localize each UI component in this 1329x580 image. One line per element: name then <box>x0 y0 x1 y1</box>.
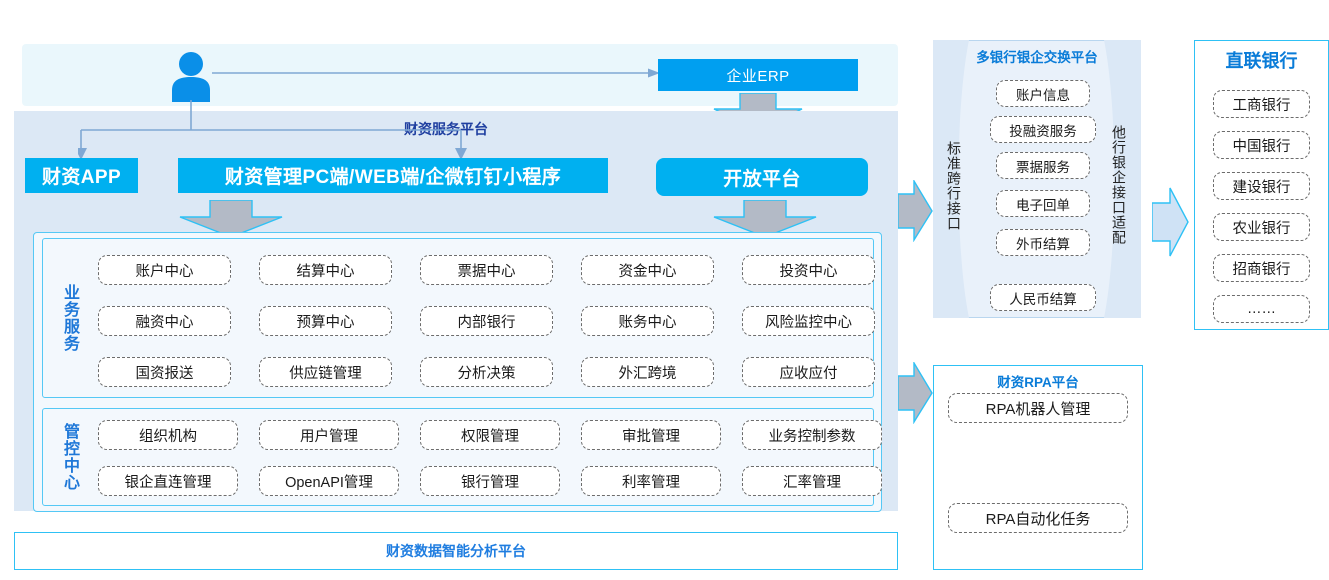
treasury-app-bar[interactable]: 财资APP <box>25 158 138 193</box>
management-cell[interactable]: 汇率管理 <box>742 466 882 496</box>
standard-interface-label: 标准跨行接口 <box>938 118 964 254</box>
management-cell[interactable]: 权限管理 <box>420 420 560 450</box>
other-bank-adapter-label: 他行银企接口适配 <box>1103 100 1129 270</box>
analytics-platform-bar[interactable]: 财资数据智能分析平台 <box>14 532 898 570</box>
treasury-pc-web-label: 财资管理PC端/WEB端/企微钉钉小程序 <box>225 162 561 189</box>
service-cell[interactable]: 资金中心 <box>581 255 714 285</box>
exchange-item[interactable]: 账户信息 <box>996 80 1090 107</box>
exchange-item[interactable]: 人民币结算 <box>990 284 1096 311</box>
exchange-item[interactable]: 电子回单 <box>996 190 1090 217</box>
bank-item[interactable]: 招商银行 <box>1213 254 1310 282</box>
service-cell[interactable]: 结算中心 <box>259 255 392 285</box>
bank-item[interactable]: 农业银行 <box>1213 213 1310 241</box>
service-cell[interactable]: 账户中心 <box>98 255 231 285</box>
enterprise-erp-box[interactable]: 企业ERP <box>658 59 858 91</box>
rpa-platform-title: 财资RPA平台 <box>933 371 1143 391</box>
open-platform-bar[interactable]: 开放平台 <box>656 158 868 196</box>
management-cell[interactable]: 利率管理 <box>581 466 721 496</box>
service-cell[interactable]: 账务中心 <box>581 306 714 336</box>
rpa-item[interactable]: RPA机器人管理 <box>948 393 1128 423</box>
management-cell[interactable]: 组织机构 <box>98 420 238 450</box>
exchange-item[interactable]: 投融资服务 <box>990 116 1096 143</box>
user-to-erp-connector <box>212 66 662 78</box>
exchange-item[interactable]: 票据服务 <box>996 152 1090 179</box>
management-center-label: 管控中心 <box>55 415 77 499</box>
service-cell[interactable]: 融资中心 <box>98 306 231 336</box>
user-branch-connector <box>78 100 478 162</box>
management-cell[interactable]: OpenAPI管理 <box>259 466 399 496</box>
service-cell[interactable]: 外汇跨境 <box>581 357 714 387</box>
bank-item[interactable]: 建设银行 <box>1213 172 1310 200</box>
bank-item[interactable]: 中国银行 <box>1213 131 1310 159</box>
service-cell[interactable]: 票据中心 <box>420 255 553 285</box>
service-cell[interactable]: 应收应付 <box>742 357 875 387</box>
management-cell[interactable]: 用户管理 <box>259 420 399 450</box>
exchange-item[interactable]: 外币结算 <box>996 229 1090 256</box>
rpa-item[interactable]: RPA自动化任务 <box>948 503 1128 533</box>
bank-item[interactable]: …… <box>1213 295 1310 323</box>
service-cell[interactable]: 分析决策 <box>420 357 553 387</box>
treasury-app-label: 财资APP <box>42 162 121 189</box>
exchange-platform-title: 多银行银企交换平台 <box>933 46 1141 66</box>
management-cell[interactable]: 业务控制参数 <box>742 420 882 450</box>
management-cell[interactable]: 银行管理 <box>420 466 560 496</box>
open-platform-label: 开放平台 <box>723 164 801 191</box>
service-cell[interactable]: 国资报送 <box>98 357 231 387</box>
platform-to-rpa-arrow-icon <box>898 362 934 429</box>
service-cell[interactable]: 供应链管理 <box>259 357 392 387</box>
management-cell[interactable]: 审批管理 <box>581 420 721 450</box>
service-cell[interactable]: 预算中心 <box>259 306 392 336</box>
business-service-label: 业务服务 <box>55 252 77 384</box>
direct-banks-title: 直联银行 <box>1194 47 1329 73</box>
enterprise-erp-label: 企业ERP <box>726 65 789 86</box>
bank-item[interactable]: 工商银行 <box>1213 90 1310 118</box>
service-cell[interactable]: 投资中心 <box>742 255 875 285</box>
management-cell[interactable]: 银企直连管理 <box>98 466 238 496</box>
architecture-diagram: 企业ERP 财资服务平台 财资APP 财资管理PC端/WEB端/企微钉钉小程序 … <box>0 0 1329 580</box>
treasury-pc-web-bar[interactable]: 财资管理PC端/WEB端/企微钉钉小程序 <box>178 158 608 193</box>
exchange-to-banks-arrow-icon <box>1152 186 1190 263</box>
user-icon <box>170 50 212 102</box>
service-cell[interactable]: 风险监控中心 <box>742 306 875 336</box>
platform-to-exchange-arrow-icon <box>898 180 934 247</box>
analytics-platform-label: 财资数据智能分析平台 <box>386 541 526 561</box>
service-cell[interactable]: 内部银行 <box>420 306 553 336</box>
